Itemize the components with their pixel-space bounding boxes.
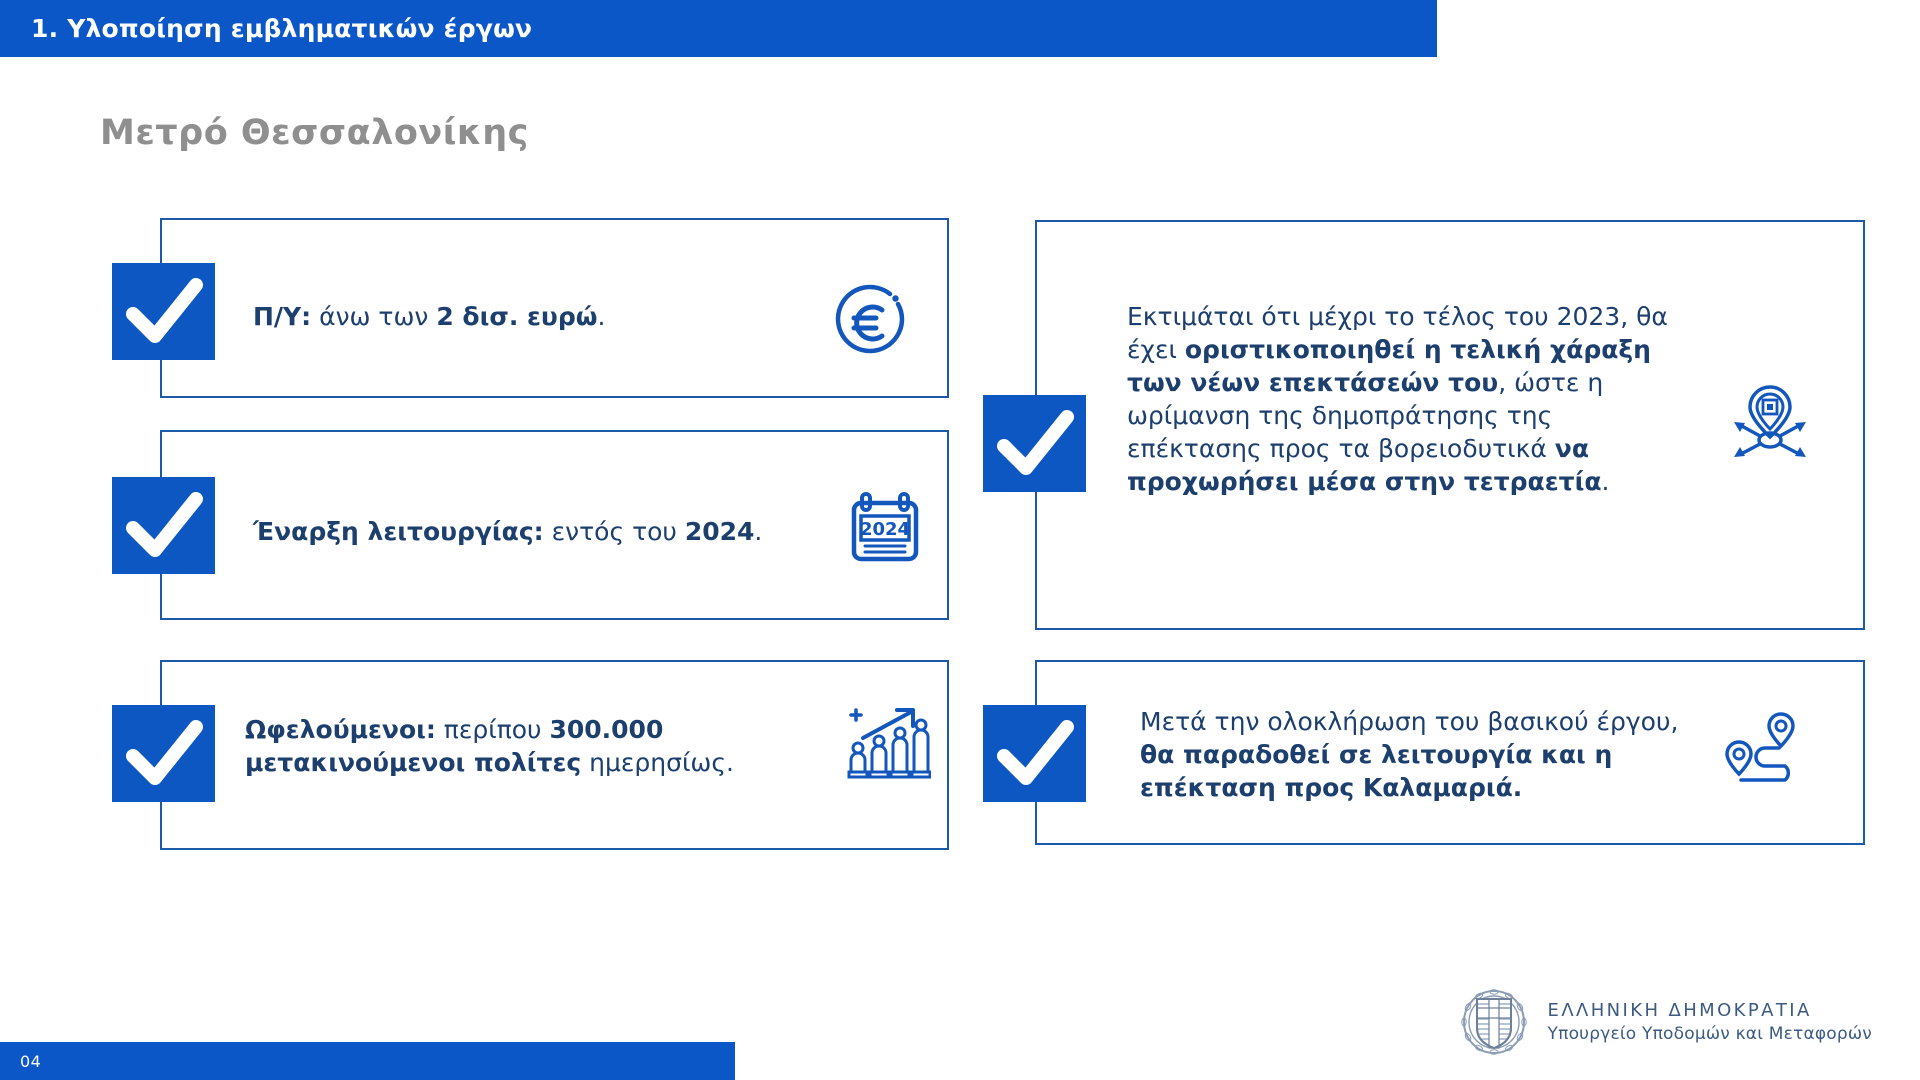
card-route-text: Εκτιμάται ότι μέχρι το τέλος του 2023, θ… [1127, 300, 1692, 498]
calendar-year-label: 2024 [860, 519, 910, 540]
route-pins-icon [1723, 710, 1805, 784]
calendar-2024-icon: 2024 [847, 490, 923, 566]
brand-line-ministry: Υπουργείο Υποδομών και Μεταφορών [1548, 1024, 1872, 1044]
brand-line-republic: ΕΛΛΗΝΙΚΗ ΔΗΜΟΚΡΑΤΙΑ [1548, 1000, 1872, 1021]
greek-coat-of-arms-icon [1458, 986, 1530, 1058]
page-title: Μετρό Θεσσαλονίκης [100, 113, 529, 153]
card-kalamaria-text: Μετά την ολοκλήρωση του βασικού έργου, θ… [1140, 705, 1715, 804]
brand-text: ΕΛΛΗΝΙΚΗ ΔΗΜΟΚΡΑΤΙΑ Υπουργείο Υποδομών κ… [1548, 1000, 1872, 1044]
people-growth-icon [845, 700, 931, 780]
euro-coin-icon [832, 282, 914, 364]
card-launch-text: Έναρξη λειτουργίας: εντός του 2024. [253, 515, 793, 548]
brand-block: ΕΛΛΗΝΙΚΗ ΔΗΜΟΚΡΑΤΙΑ Υπουργείο Υποδομών κ… [1458, 986, 1872, 1058]
header-bar: 1. Υλοποίηση εμβληματικών έργων [0, 0, 1437, 57]
map-pin-expansion-icon [1726, 385, 1814, 463]
checkmark-icon [112, 263, 215, 360]
checkmark-icon [983, 705, 1086, 802]
header-title: 1. Υλοποίηση εμβληματικών έργων [31, 14, 532, 43]
checkmark-icon [983, 395, 1086, 492]
checkmark-icon [112, 477, 215, 574]
page-number: 04 [20, 1052, 41, 1071]
card-riders-text: Ωφελούμενοι: περίπου 300.000 μετακινούμε… [245, 713, 845, 779]
checkmark-icon [112, 705, 215, 802]
card-budget-text: Π/Υ: άνω των 2 δισ. ευρώ. [253, 300, 773, 333]
footer-bar: 04 [0, 1042, 735, 1080]
